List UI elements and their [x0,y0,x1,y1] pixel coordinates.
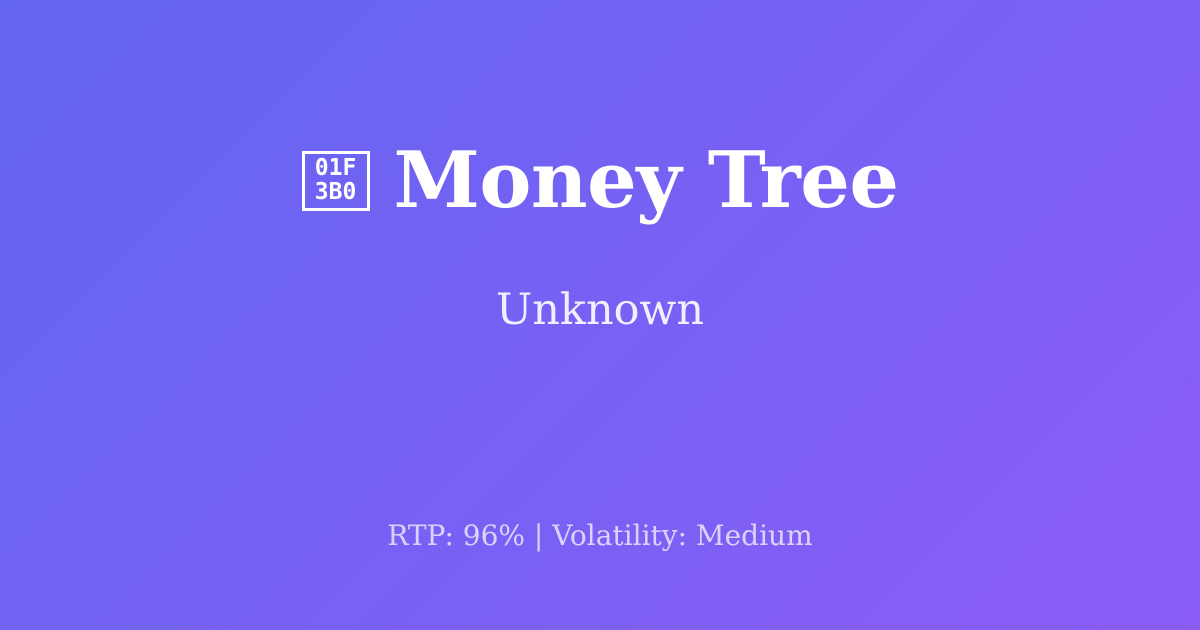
page-title: Money Tree [394,141,899,221]
tofu-codepoint-top: 01F [315,157,357,181]
game-meta-line: RTP: 96% | Volatility: Medium [387,519,812,552]
footer: RTP: 96% | Volatility: Medium [0,519,1200,553]
tofu-codepoint-bottom: 3B0 [315,181,357,205]
title-row: 01F 3B0 Money Tree [302,141,899,221]
og-share-card: 01F 3B0 Money Tree Unknown RTP: 96% | Vo… [0,0,1200,630]
hero-block: 01F 3B0 Money Tree Unknown [0,0,1200,478]
slot-machine-emoji-icon: 01F 3B0 [302,151,370,211]
subtitle: Unknown [496,285,704,337]
